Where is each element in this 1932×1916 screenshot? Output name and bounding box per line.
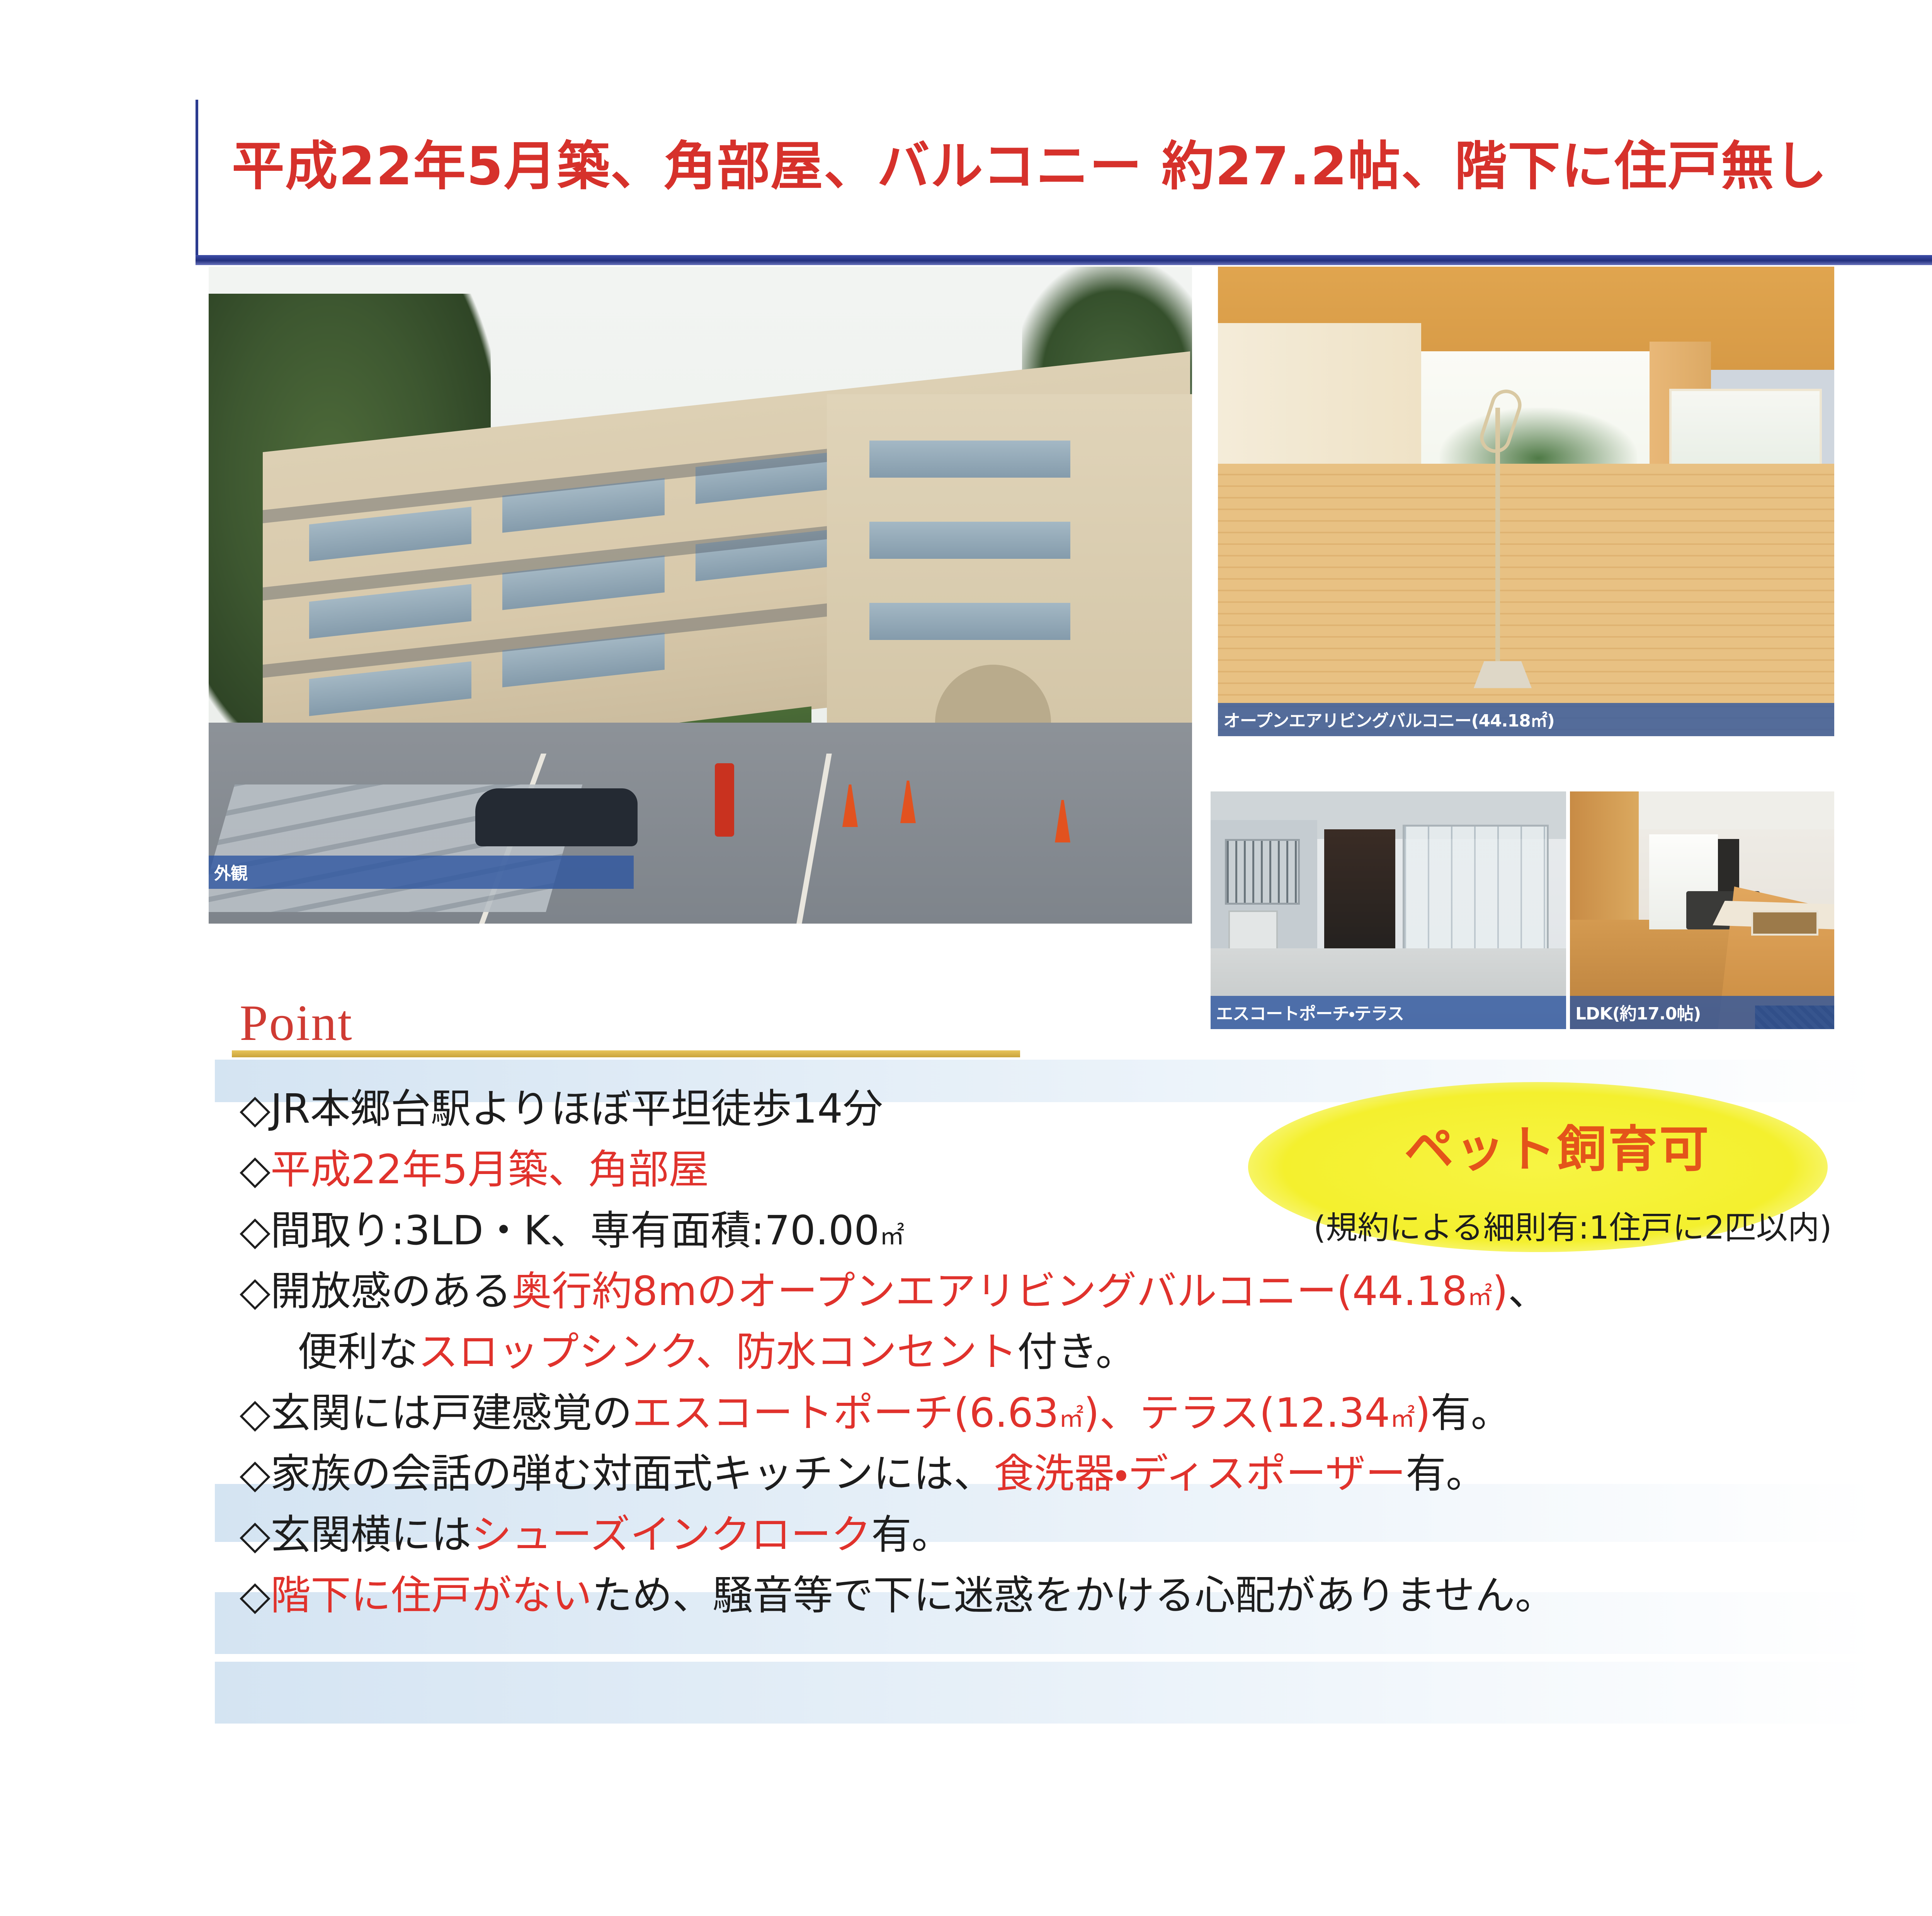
ac-outdoor-unit [1228, 910, 1278, 951]
photo-caption-ldk: LDK(約17.0帖) [1570, 996, 1834, 1029]
photo-exterior: 外観 [209, 267, 1192, 924]
point-text-segment: ため、騒音等で下に迷惑をかける心配がありません。 [592, 1572, 1555, 1619]
point-text-segment: 階下に住戸がない [270, 1572, 592, 1619]
point-text-segment: 有。 [1406, 1450, 1486, 1497]
page-title: 平成22年5月築、角部屋、バルコニー 約27.2帖、階下に住戸無し [232, 124, 1932, 200]
photo-caption-exterior: 外観 [209, 856, 634, 889]
point-text-segment: 玄関横には [270, 1511, 471, 1558]
point-text-segment: 、 [1508, 1268, 1548, 1315]
point-text-segment: 玄関には戸建感覚の [270, 1389, 632, 1436]
parked-car [475, 788, 638, 846]
point-text-segment: 便利な [298, 1328, 418, 1375]
photo-open-air-balcony: オープンエアリビングバルコニー(44.18㎡) [1218, 267, 1834, 736]
laundry-pole [1495, 408, 1500, 680]
point-text-segment: 平成22年5月築、角部屋 [270, 1146, 709, 1193]
pet-rule-note: (規約による細則有:1住戸に2匹以内) [1167, 1202, 1932, 1248]
point-text-segment: 有。 [871, 1511, 952, 1558]
flyer-sheet: 平成22年5月築、角部屋、バルコニー 約27.2帖、階下に住戸無し [0, 0, 1932, 1916]
point-underline [232, 1050, 1020, 1057]
point-item: ◇玄関横にはシューズインクローク有。 [240, 1508, 1932, 1562]
diamond-bullet-icon: ◇ [240, 1207, 270, 1254]
point-text-segment: 付き。 [1017, 1328, 1136, 1375]
point-text-segment: 有。 [1431, 1389, 1511, 1436]
photo-ldk: LDK(約17.0帖) [1570, 791, 1834, 1029]
wood-deck [1218, 464, 1834, 736]
entrance-door [1324, 829, 1395, 953]
diamond-bullet-icon: ◇ [240, 1450, 270, 1497]
point-item: ◇階下に住戸がないため、騒音等で下に迷惑をかける心配がありません。 [240, 1569, 1932, 1622]
point-item: ◇家族の会話の弾む対面式キッチンには、食洗器・ディスポーザー有。 [240, 1447, 1932, 1501]
point-text-segment: エスコートポーチ(6.63㎡)、テラス(12.34㎡) [632, 1389, 1431, 1436]
photo-caption-balcony: オープンエアリビングバルコニー(44.18㎡) [1218, 703, 1834, 736]
pet-allowed-label: ペット飼育可 [1306, 1109, 1808, 1181]
diamond-bullet-icon: ◇ [240, 1268, 270, 1315]
point-text-segment: 奥行約8mのオープンエアリビングバルコニー(44.18㎡) [512, 1268, 1508, 1315]
point-text-segment: 食洗器・ディスポーザー [994, 1450, 1406, 1497]
header-divider [196, 255, 1932, 265]
point-text-segment: JR本郷台駅よりほぼ平坦徒歩14分 [270, 1085, 883, 1132]
photo-caption-porch: エスコートポーチ・テラス [1211, 996, 1566, 1029]
point-text-segment: 家族の会話の弾む対面式キッチンには、 [270, 1450, 994, 1497]
glass-fence [1403, 825, 1549, 952]
highlight-band [215, 1662, 1876, 1724]
diamond-bullet-icon: ◇ [240, 1572, 270, 1619]
diamond-bullet-icon: ◇ [240, 1085, 270, 1132]
point-text-segment: スロップシンク、防水コンセント [418, 1328, 1017, 1375]
point-heading: Point [240, 993, 353, 1052]
diamond-bullet-icon: ◇ [240, 1146, 270, 1193]
photo-escort-porch-terrace: エスコートポーチ・テラス [1211, 791, 1566, 1029]
point-item: 便利なスロップシンク、防水コンセント付き。 [240, 1325, 1932, 1379]
bollard [715, 763, 734, 837]
diamond-bullet-icon: ◇ [240, 1511, 270, 1558]
point-text-segment: 開放感のある [270, 1268, 512, 1315]
point-text-segment: シューズインクローク [471, 1511, 871, 1558]
point-text-segment: 間取り:3LD・K、専有面積:70.00㎡ [270, 1207, 905, 1254]
point-item: ◇開放感のある奥行約8mのオープンエアリビングバルコニー(44.18㎡)、 [240, 1264, 1932, 1318]
sink [1751, 910, 1818, 936]
point-item: ◇玄関には戸建感覚のエスコートポーチ(6.63㎡)、テラス(12.34㎡)有。 [240, 1386, 1932, 1440]
diamond-bullet-icon: ◇ [240, 1389, 270, 1436]
grille [1225, 839, 1300, 905]
